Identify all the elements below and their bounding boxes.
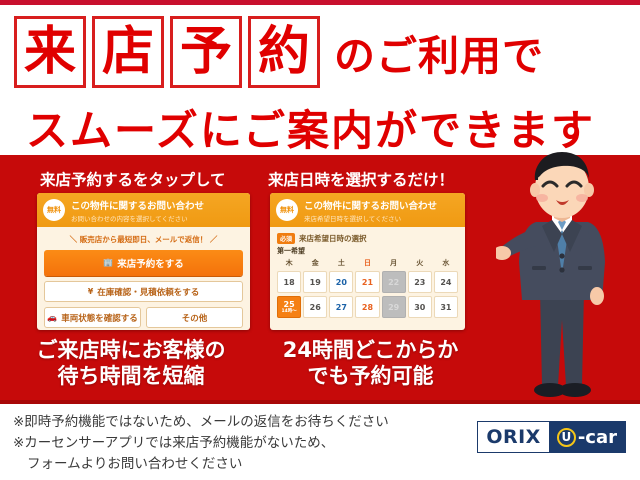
left-mock-title: この物件に関するお問い合わせ bbox=[71, 198, 204, 212]
calendar-day-number: 29 bbox=[388, 303, 399, 312]
yen-icon: ¥ bbox=[88, 288, 94, 296]
footer-section: ※即時予約機能ではないため、メールの返信をお待ちください ※カーセンサーアプリで… bbox=[0, 404, 640, 480]
stock-quote-label: 在庫確認・見積依頼をする bbox=[97, 286, 199, 298]
calendar-day-number: 23 bbox=[414, 278, 425, 287]
calendar-week-row: 18192021222324 bbox=[277, 271, 458, 293]
headline-row: 来 店 予 約 のご利用で bbox=[14, 13, 626, 91]
footer-notes: ※即時予約機能ではないため、メールの返信をお待ちください ※カーセンサーアプリで… bbox=[13, 412, 473, 475]
vehicle-condition-button[interactable]: 🚗 車両状態を確認する bbox=[44, 307, 141, 328]
left-phone-mockup: 無料 この物件に関するお問い合わせ お問い合わせの内容を選択してください ＼ 販… bbox=[37, 193, 250, 330]
other-label: その他 bbox=[182, 312, 208, 324]
reserve-visit-label: 来店予約をする bbox=[117, 256, 184, 270]
calendar-dow-木: 木 bbox=[277, 258, 301, 269]
secondary-button-row: 🚗 車両状態を確認する その他 bbox=[44, 302, 243, 328]
calendar-day-20[interactable]: 20 bbox=[329, 271, 353, 293]
car-wordmark: -car bbox=[578, 427, 617, 448]
advertisement-banner: 来 店 予 約 のご利用で スムーズにご案内ができます 来店予約するをタップして… bbox=[0, 0, 640, 480]
calendar-dow-月: 月 bbox=[382, 258, 406, 269]
calendar-day-number: 24 bbox=[440, 278, 451, 287]
calendar-day-number: 19 bbox=[310, 278, 321, 287]
calendar-day-21[interactable]: 21 bbox=[355, 271, 379, 293]
right-phone-mockup: 無料 この物件に関するお問い合わせ 来店希望日時を選択してください 必須 来店希… bbox=[270, 193, 465, 330]
left-panel-heading: 来店予約するをタップして bbox=[40, 168, 226, 190]
promo-text: ＼ 販売店から最短即日、メールで返信！ ／ bbox=[44, 234, 243, 245]
calendar-day-30[interactable]: 30 bbox=[408, 296, 432, 318]
store-icon: 🏢 bbox=[103, 259, 113, 267]
footer-note-2: ※カーセンサーアプリでは来店予約機能がないため、 bbox=[13, 433, 473, 454]
calendar-label-row: 必須 来店希望日時の選択 bbox=[277, 233, 458, 244]
calendar-day-number: 31 bbox=[440, 303, 451, 312]
u-circle-icon: U bbox=[557, 428, 576, 447]
calendar-week-row: 2514時～262728293031 bbox=[277, 296, 458, 318]
calendar-day-23[interactable]: 23 bbox=[408, 271, 432, 293]
vehicle-condition-label: 車両状態を確認する bbox=[61, 312, 138, 324]
calendar-day-number: 30 bbox=[414, 303, 425, 312]
free-badge: 無料 bbox=[43, 199, 65, 221]
right-mock-title: この物件に関するお問い合わせ bbox=[304, 198, 437, 212]
salesman-illustration bbox=[496, 150, 628, 404]
headline-suffix: のご利用で bbox=[334, 22, 544, 82]
kanji-box-3: 予 bbox=[170, 16, 242, 88]
kanji-box-1: 来 bbox=[14, 16, 86, 88]
right-mock-body: 必須 来店希望日時の選択 第一希望 木金土日月火水 18192021222324… bbox=[270, 227, 465, 324]
left-mock-body: ＼ 販売店から最短即日、メールで返信！ ／ 🏢 来店予約をする ¥ 在庫確認・見… bbox=[37, 227, 250, 330]
calendar-day-number: 22 bbox=[388, 278, 399, 287]
calendar-dow-row: 木金土日月火水 bbox=[277, 258, 458, 269]
right-mock-header-text: この物件に関するお問い合わせ 来店希望日時を選択してください bbox=[304, 198, 437, 223]
reserve-visit-button[interactable]: 🏢 来店予約をする bbox=[44, 250, 243, 276]
calendar-day-number: 20 bbox=[336, 278, 347, 287]
orix-ucar-logo: ORIX U -car bbox=[477, 421, 626, 453]
required-tag: 必須 bbox=[277, 233, 295, 244]
calendar-dow-火: 火 bbox=[408, 258, 432, 269]
first-choice-label: 第一希望 bbox=[277, 246, 458, 256]
calendar-day-note: 14時～ bbox=[281, 308, 296, 314]
footer-note-3: フォームよりお問い合わせください bbox=[13, 454, 473, 475]
calendar-day-number: 27 bbox=[336, 303, 347, 312]
left-mock-header-text: この物件に関するお問い合わせ お問い合わせの内容を選択してください bbox=[71, 198, 204, 223]
right-panel-heading: 来店日時を選択するだけ！ bbox=[268, 168, 454, 190]
right-mock-subtitle: 来店希望日時を選択してください bbox=[304, 213, 437, 223]
calendar-dow-水: 水 bbox=[434, 258, 458, 269]
right-caption: 24時間どこからか でも予約可能 bbox=[258, 337, 483, 390]
kanji-box-4: 約 bbox=[248, 16, 320, 88]
calendar-day-number: 21 bbox=[362, 278, 373, 287]
left-mock-subtitle: お問い合わせの内容を選択してください bbox=[71, 213, 204, 223]
ucar-wordmark: U -car bbox=[549, 422, 625, 452]
calendar-day-26[interactable]: 26 bbox=[303, 296, 327, 318]
calendar-day-22: 22 bbox=[382, 271, 406, 293]
calendar-day-31[interactable]: 31 bbox=[434, 296, 458, 318]
right-caption-line1: 24時間どこからか bbox=[258, 337, 483, 363]
calendar-dow-土: 土 bbox=[329, 258, 353, 269]
left-caption: ご来店時にお客様の 待ち時間を短縮 bbox=[6, 337, 256, 390]
free-badge: 無料 bbox=[276, 199, 298, 221]
stock-quote-button[interactable]: ¥ 在庫確認・見積依頼をする bbox=[44, 281, 243, 302]
orix-wordmark: ORIX bbox=[478, 422, 549, 452]
calendar-label: 来店希望日時の選択 bbox=[299, 233, 367, 244]
calendar-day-27[interactable]: 27 bbox=[329, 296, 353, 318]
calendar-dow-金: 金 bbox=[303, 258, 327, 269]
headline-second-line: スムーズにご案内ができます bbox=[26, 97, 626, 158]
left-caption-line1: ご来店時にお客様の bbox=[6, 337, 256, 363]
footer-note-1: ※即時予約機能ではないため、メールの返信をお待ちください bbox=[13, 412, 473, 433]
calendar-day-number: 28 bbox=[362, 303, 373, 312]
header-section: 来 店 予 約 のご利用で スムーズにご案内ができます bbox=[0, 5, 640, 155]
calendar-day-24[interactable]: 24 bbox=[434, 271, 458, 293]
calendar-day-19[interactable]: 19 bbox=[303, 271, 327, 293]
kanji-box-2: 店 bbox=[92, 16, 164, 88]
calendar-day-28[interactable]: 28 bbox=[355, 296, 379, 318]
calendar-day-29: 29 bbox=[382, 296, 406, 318]
calendar-day-18[interactable]: 18 bbox=[277, 271, 301, 293]
calendar-day-number: 18 bbox=[284, 278, 295, 287]
left-caption-line2: 待ち時間を短縮 bbox=[6, 363, 256, 389]
calendar-dow-日: 日 bbox=[355, 258, 379, 269]
right-mock-header: 無料 この物件に関するお問い合わせ 来店希望日時を選択してください bbox=[270, 193, 465, 227]
calendar-day-number: 26 bbox=[310, 303, 321, 312]
car-icon: 🚗 bbox=[47, 314, 57, 322]
left-mock-header: 無料 この物件に関するお問い合わせ お問い合わせの内容を選択してください bbox=[37, 193, 250, 227]
right-caption-line2: でも予約可能 bbox=[258, 363, 483, 389]
calendar-day-25[interactable]: 2514時～ bbox=[277, 296, 301, 318]
other-button[interactable]: その他 bbox=[146, 307, 243, 328]
